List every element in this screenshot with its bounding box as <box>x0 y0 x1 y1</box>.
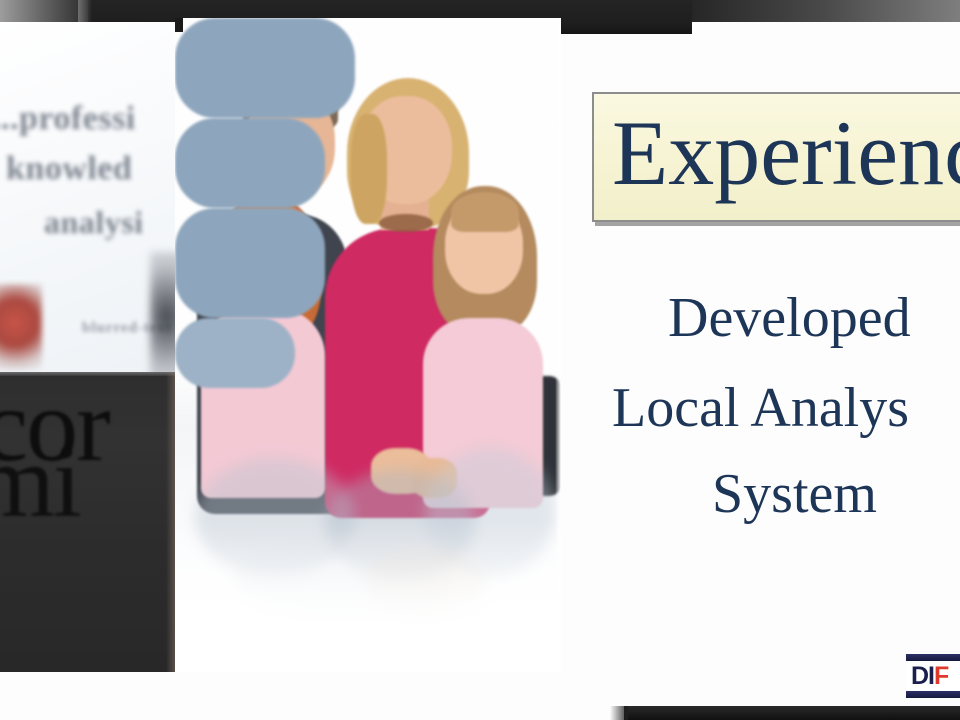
photo-corner-mark <box>175 18 183 32</box>
background-slide-red-graphic <box>0 284 42 370</box>
slide-title-box: Experienc <box>592 92 960 222</box>
slide-bullet-3: System <box>712 462 877 526</box>
page-title: Experienc <box>612 88 960 218</box>
logo-bottom-bar <box>906 691 960 698</box>
photo-girl-two-fringe <box>451 192 519 232</box>
slide-stage: ...professi knowled analysi blurred-text… <box>0 0 960 720</box>
slide-bullet-1: Developed <box>668 286 911 350</box>
background-slide-line-1: ...professi <box>0 100 136 138</box>
dark-panel-ghost-text-bottom: mi <box>0 422 80 541</box>
photo-mother-necklace <box>379 214 433 232</box>
photo-right-fade <box>555 18 561 672</box>
background-slide-line-2: knowled <box>6 150 132 188</box>
logo-top-bar <box>906 654 960 661</box>
photo-jeans-two <box>175 118 325 208</box>
photo-jeans-four <box>175 318 295 388</box>
family-photo <box>175 18 561 672</box>
photo-jeans-one <box>175 18 355 118</box>
photo-mother-hair-strand <box>351 114 387 224</box>
slide-bullet-2: Local Analys <box>612 376 909 440</box>
logo-text-accent: F <box>934 662 948 690</box>
dark-overlay-panel: cor mi <box>0 372 176 672</box>
logo-text: DIF <box>911 662 948 690</box>
background-slide-line-3: analysi <box>44 204 144 241</box>
logo-text-primary: DI <box>911 662 934 690</box>
bottom-letterbox-strip <box>624 706 960 720</box>
background-slide: ...professi knowled analysi blurred-text <box>0 22 186 374</box>
brand-logo: DIF <box>906 654 960 698</box>
photo-bottom-fade <box>175 522 561 672</box>
photo-jeans-three <box>175 208 325 318</box>
